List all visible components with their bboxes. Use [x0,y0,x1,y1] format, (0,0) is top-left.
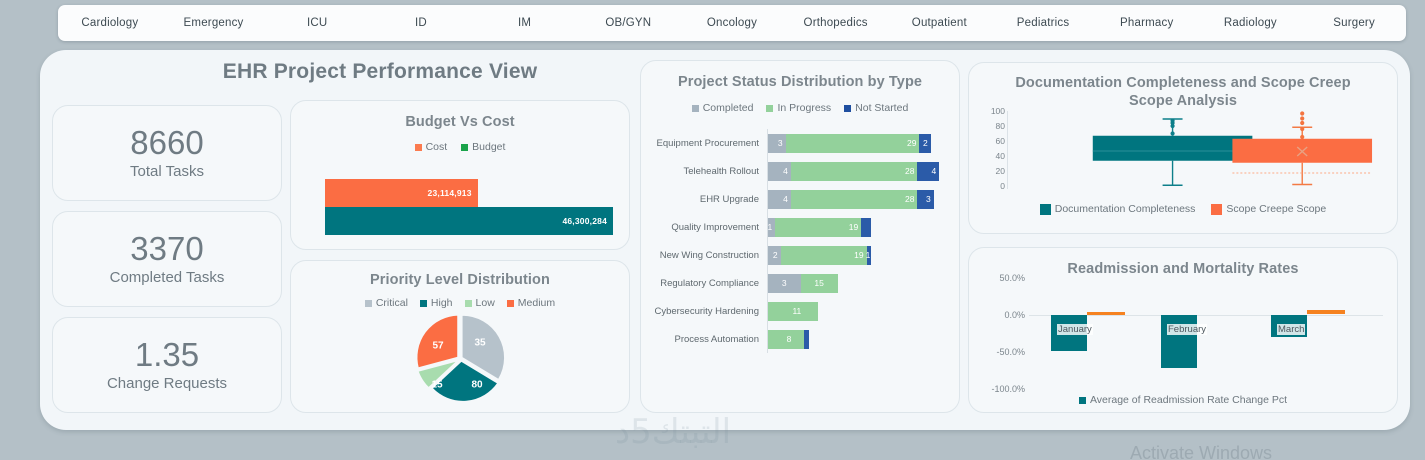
segment-value-completed: 3 [778,138,783,148]
table-row: Telehealth Rollout 4 28 4 [649,157,949,185]
tab-orthopedics[interactable]: Orthopedics [784,17,888,29]
y-tick-20: 20 [996,166,1005,176]
chart-title-readmission: Readmission and Mortality Rates [969,260,1397,278]
segment-not-started[interactable]: 2 [919,134,930,153]
segment-value-not-started: 2 [923,138,928,148]
legend-swatch-critical-icon [365,300,372,307]
legend-label-budget: Budget [472,141,505,153]
bar-value-cost: 23,114,913 [428,188,472,198]
department-tab-strip: Cardiology Emergency ICU ID IM OB/GYN On… [58,5,1406,41]
legend-item-readmission-rate: Average of Readmission Rate Change Pct [1079,394,1287,406]
segment-value-completed: 1 [768,222,773,232]
category-label-process-automation: Process Automation [649,334,767,345]
legend-item-scope-creep: Scope Creepe Scope [1211,203,1326,215]
priority-pie-plot: 35 80 15 57 [291,313,629,405]
budget-vs-cost-plot: 23,114,913 46,300,284 [325,179,613,235]
segment-value-not-started: 3 [926,194,931,204]
activate-windows-watermark: Activate Windows [1130,443,1272,460]
bar-value-budget: 46,300,284 [562,216,607,226]
chart-card-priority-level: Priority Level Distribution Critical Hig… [290,260,630,413]
legend-swatch-cost-icon [415,144,422,151]
segment-not-started[interactable] [861,218,871,237]
segment-value-in-progress: 19 [849,222,858,232]
segment-value-in-progress: 8 [787,334,792,344]
y-tick-80: 80 [996,121,1005,131]
legend-item-not-started: Not Started [844,102,908,114]
legend-item-cost: Cost [415,141,448,153]
chart-title-project-status: Project Status Distribution by Type [641,73,959,91]
pie-label-medium: 57 [432,341,443,352]
segment-in-progress[interactable]: 11 [768,302,818,321]
chart-title-documentation-scope: Documentation Completeness and Scope Cre… [993,74,1373,110]
segment-value-in-progress: 28 [905,166,914,176]
pie-label-critical: 35 [474,338,485,349]
dashboard-root: Cardiology Emergency ICU ID IM OB/GYN On… [0,0,1425,460]
tab-pharmacy[interactable]: Pharmacy [1095,17,1199,29]
segment-completed[interactable]: 3 [768,274,801,293]
box-documentation-completeness [1093,119,1253,185]
table-row: Regulatory Compliance 3 15 [649,269,949,297]
table-row: Equipment Procurement 3 29 2 [649,129,949,157]
legend-item-completed: Completed [692,102,754,114]
bar-mortality-january[interactable] [1087,312,1125,315]
kpi-label-total-tasks: Total Tasks [130,163,204,180]
legend-item-budget: Budget [461,141,505,153]
legend-swatch-completed-icon [692,105,699,112]
y-tick-0: 0.0% [1004,310,1025,320]
legend-label-completed: Completed [703,102,754,114]
category-label-quality-improvement: Quality Improvement [649,222,767,233]
legend-priority-level: Critical High Low Medium [291,297,629,309]
legend-swatch-documentation-completeness-icon [1040,204,1051,215]
tab-surgery[interactable]: Surgery [1302,17,1406,29]
tab-outpatient[interactable]: Outpatient [888,17,992,29]
tab-cardiology[interactable]: Cardiology [58,17,162,29]
box-plot-area [1007,111,1387,189]
pie-label-low: 15 [431,380,442,391]
legend-documentation-scope: Documentation Completeness Scope Creepe … [969,203,1397,215]
legend-swatch-medium-icon [507,300,514,307]
category-label-new-wing-construction: New Wing Construction [649,250,767,261]
legend-item-documentation-completeness: Documentation Completeness [1040,203,1196,215]
segment-value-completed: 2 [773,250,778,260]
segment-value-in-progress: 15 [814,278,823,288]
table-row: New Wing Construction 2 19 1 [649,241,949,269]
table-row: Process Automation 8 [649,325,949,353]
legend-swatch-not-started-icon [844,105,851,112]
box-plot-svg[interactable] [1008,111,1387,189]
project-status-plot: Equipment Procurement 3 29 2 Telehealth … [649,129,949,353]
chart-title-priority-level: Priority Level Distribution [291,271,629,289]
table-row: Cybersecurity Hardening 11 [649,297,949,325]
category-label-ehr-upgrade: EHR Upgrade [649,194,767,205]
bar-budget[interactable]: 46,300,284 [325,207,613,235]
y-tick-40: 40 [996,151,1005,161]
y-tick-100: 100 [991,106,1005,116]
y-tick-60: 60 [996,136,1005,146]
category-label-january: January [1057,324,1093,335]
kpi-card-total-tasks: 8660 Total Tasks [52,105,282,201]
kpi-value-change-requests: 1.35 [135,338,199,373]
legend-item-high: High [420,297,453,309]
segment-completed[interactable]: 4 [768,162,791,181]
legend-label-in-progress: In Progress [777,102,831,114]
category-label-equipment-procurement: Equipment Procurement [649,138,767,149]
category-label-cybersecurity-hardening: Cybersecurity Hardening [649,306,767,317]
legend-label-medium: Medium [518,297,555,309]
segment-not-started[interactable]: 3 [917,190,933,209]
legend-swatch-low-icon [465,300,472,307]
segment-not-started[interactable] [804,330,809,349]
segment-value-in-progress: 28 [905,194,914,204]
legend-swatch-in-progress-icon [766,105,773,112]
segment-in-progress[interactable]: 19 [775,218,861,237]
pie-label-high: 80 [471,380,482,391]
segment-in-progress[interactable]: 29 [786,134,920,153]
legend-label-not-started: Not Started [855,102,908,114]
segment-value-completed: 3 [782,278,787,288]
legend-label-high: High [431,297,453,309]
segment-value-completed: 4 [783,166,788,176]
legend-swatch-scope-creep-icon [1211,204,1222,215]
legend-label-scope-creep: Scope Creepe Scope [1226,203,1326,215]
segment-in-progress[interactable]: 15 [801,274,838,293]
tab-radiology[interactable]: Radiology [1199,17,1303,29]
legend-item-in-progress: In Progress [766,102,831,114]
segment-value-not-started: 1 [866,250,871,260]
tab-pediatrics[interactable]: Pediatrics [991,17,1095,29]
legend-swatch-readmission-rate-icon [1079,397,1086,404]
segment-value-not-started: 4 [931,166,936,176]
bar-readmission-february[interactable] [1161,315,1197,368]
chart-title-budget-vs-cost: Budget Vs Cost [291,113,629,131]
y-tick-0: 0 [1000,181,1005,191]
kpi-value-total-tasks: 8660 [130,126,203,161]
category-label-february: February [1167,324,1207,335]
legend-readmission: Average of Readmission Rate Change Pct [969,394,1397,406]
category-label-telehealth-rollout: Telehealth Rollout [649,166,767,177]
kpi-card-change-requests: 1.35 Change Requests [52,317,282,413]
legend-label-readmission-rate: Average of Readmission Rate Change Pct [1090,394,1287,406]
segment-completed[interactable]: 4 [768,190,791,209]
chart-card-documentation-scope: Documentation Completeness and Scope Cre… [968,62,1398,234]
tab-im[interactable]: IM [473,17,577,29]
pie-chart-svg[interactable] [414,313,506,405]
legend-swatch-budget-icon [461,144,468,151]
chart-card-project-status: Project Status Distribution by Type Comp… [640,60,960,413]
table-row: EHR Upgrade 4 28 3 [649,185,949,213]
tab-id[interactable]: ID [369,17,473,29]
legend-budget-vs-cost: Cost Budget [291,141,629,153]
legend-item-critical: Critical [365,297,408,309]
legend-project-status: Completed In Progress Not Started [641,102,959,114]
legend-label-critical: Critical [376,297,408,309]
page-title: EHR Project Performance View [150,60,610,84]
segment-value-completed: 4 [783,194,788,204]
y-tick-50: 50.0% [999,273,1025,283]
segment-value-in-progress: 29 [907,138,916,148]
segment-completed[interactable]: 2 [768,246,781,265]
segment-in-progress[interactable]: 8 [768,330,804,349]
y-tick-n50: -50.0% [996,347,1025,357]
tab-emergency[interactable]: Emergency [162,17,266,29]
kpi-label-change-requests: Change Requests [107,375,227,392]
segment-in-progress[interactable]: 28 [791,162,918,181]
segment-in-progress[interactable]: 19 [781,246,867,265]
dashboard-canvas: EHR Project Performance View 8660 Total … [40,50,1410,430]
segment-completed[interactable]: 3 [768,134,786,153]
table-row: Quality Improvement 1 19 [649,213,949,241]
readmission-plot: January February March [1029,278,1383,388]
bar-cost[interactable]: 23,114,913 [325,179,478,207]
tab-obgyn[interactable]: OB/GYN [576,17,680,29]
y-tick-n100: -100.0% [991,384,1025,394]
legend-item-medium: Medium [507,297,555,309]
segment-not-started[interactable]: 4 [917,162,939,181]
legend-label-cost: Cost [426,141,448,153]
kpi-card-completed-tasks: 3370 Completed Tasks [52,211,282,307]
legend-swatch-high-icon [420,300,427,307]
category-label-march: March [1277,324,1305,335]
chart-card-readmission: Readmission and Mortality Rates 50.0% 0.… [968,247,1398,413]
category-label-regulatory-compliance: Regulatory Compliance [649,278,767,289]
legend-label-documentation-completeness: Documentation Completeness [1055,203,1196,215]
kpi-label-completed-tasks: Completed Tasks [110,269,225,286]
segment-value-in-progress: 11 [792,306,801,316]
segment-completed[interactable]: 1 [768,218,775,237]
kpi-value-completed-tasks: 3370 [130,232,203,267]
chart-card-budget-vs-cost: Budget Vs Cost Cost Budget 23,114,913 46… [290,100,630,250]
tab-oncology[interactable]: Oncology [680,17,784,29]
segment-in-progress[interactable]: 28 [791,190,918,209]
bar-mortality-march[interactable] [1307,310,1345,314]
legend-item-low: Low [465,297,495,309]
legend-label-low: Low [476,297,495,309]
segment-value-in-progress: 19 [854,250,863,260]
tab-icu[interactable]: ICU [265,17,369,29]
segment-not-started[interactable]: 1 [867,246,872,265]
